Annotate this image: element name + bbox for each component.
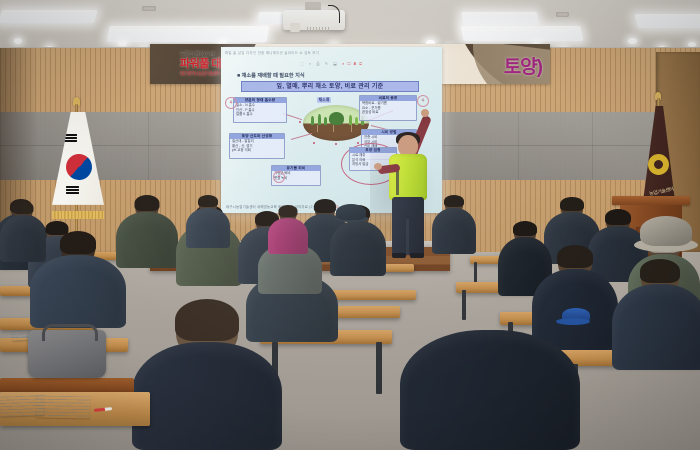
lecture-hall-photo: 두류의 활력이 넘 파워풀 대 대구광역시농업기술센터 토양) 파일 홈 삽입 … (0, 0, 700, 450)
slide-box-item: 완효성 비료 (360, 110, 416, 115)
slide-box-top-left: 양분의 형태 흡수량 질소 - N 흡수 인산 - P 흡수 칼륨 K 흡수 (233, 97, 287, 123)
slide-app-ribbon: ⬚ ⌕ ⎙ ✎ ⬓ ⌕ ⬚ ⊞ ⊡ (227, 61, 436, 69)
root-icon (333, 125, 334, 132)
audience-member (132, 300, 282, 450)
connector-node (313, 142, 315, 144)
panel-light (461, 12, 539, 25)
audience-member (268, 206, 308, 254)
plant-icon (318, 114, 321, 125)
plant-icon (324, 117, 327, 125)
root-icon (351, 125, 352, 132)
handout (36, 396, 90, 419)
audience-torso (30, 255, 126, 328)
audience-hair (605, 209, 631, 225)
audience-member (432, 196, 476, 254)
presenter-safety-vest (389, 154, 427, 200)
projector-lens (290, 23, 300, 32)
banner-left-headline: 파워풀 대 (180, 58, 221, 70)
audience-member (612, 260, 700, 370)
audience-torso (432, 208, 476, 254)
audience-hair (560, 197, 584, 211)
audience-hair (444, 195, 464, 207)
desk-leg (376, 342, 382, 394)
presenter-pointing-hand (421, 109, 429, 117)
plant-icon (311, 116, 314, 125)
audience-torso (268, 218, 308, 254)
backpack (28, 330, 106, 378)
connector-node (299, 121, 301, 123)
audience-hair (279, 205, 298, 217)
ceiling-projector (283, 2, 345, 32)
desk-leg (462, 290, 466, 320)
podium-top (612, 196, 690, 205)
downlight (628, 38, 637, 44)
audience-hair (60, 231, 96, 254)
audience-hair (175, 299, 239, 341)
slide-box-item: 칼륨 K 흡수 (234, 112, 286, 117)
diagram-center-label: 채소류 (317, 97, 331, 103)
downlight (14, 38, 22, 44)
audience-torso (330, 221, 386, 276)
sprout-icon: ⚘ (273, 171, 285, 183)
slide-title: 잎, 열매, 뿌리 채소 토양, 비료 관리 기준 (241, 81, 419, 92)
blue-cap-brim (556, 318, 590, 325)
audience-hair (513, 221, 537, 236)
audience-hair (557, 245, 593, 268)
connector-line (291, 133, 312, 140)
tree-icon (329, 112, 344, 125)
taeguk-symbol (61, 149, 96, 184)
slide-bullet-heading: ■ 채소를 재배할 때 필요한 지식 (237, 72, 305, 79)
audience-hair (198, 195, 218, 207)
panel-light (634, 14, 700, 28)
trigram-gon (66, 186, 79, 195)
ceiling-vent (556, 12, 569, 17)
audience-hair (640, 259, 680, 283)
audience-member (0, 202, 46, 262)
ribbon-icons-accent: ⌕ ⬚ ⊞ ⊡ (342, 61, 363, 66)
panel-light (107, 26, 270, 42)
presenter-shoe (392, 253, 406, 258)
plant-icon (349, 115, 352, 125)
audience-member (186, 196, 230, 248)
panel-light (461, 26, 584, 41)
projector-cable (328, 5, 340, 23)
banner-right-text: 토양) (504, 52, 542, 79)
root-icon (317, 125, 318, 132)
audience-torso (400, 330, 580, 450)
presenter-legs (392, 197, 424, 255)
downlight (688, 42, 696, 47)
projector-grille (307, 27, 329, 32)
audience-member (400, 330, 580, 450)
panel-light (0, 10, 98, 23)
organization-emblem (648, 154, 669, 175)
presenter-shoe (410, 253, 424, 258)
ribbon-icons-left: ⬚ ⌕ ⎙ ✎ ⬓ (300, 61, 339, 66)
hat (336, 204, 366, 220)
presenter-left-hand (374, 163, 382, 170)
audience-torso (186, 208, 230, 248)
audience-hair (135, 195, 160, 211)
audience-hair (13, 201, 34, 214)
sprout-icon: ⚘ (225, 97, 237, 109)
ceiling-vent (142, 6, 156, 11)
plant-icon (355, 117, 358, 125)
desk-leg (474, 262, 477, 284)
desk (330, 290, 416, 300)
slide-box-item: pH 교정 석회 (230, 148, 284, 153)
downlight (118, 40, 127, 46)
audience-torso (0, 215, 46, 262)
desk-front-edge (0, 378, 134, 392)
connector-node (335, 143, 337, 145)
audience-torso (612, 284, 700, 370)
slide-box-mid-left: 토양 산도와 산성화 질산태 - 알칼리 황산 - 산, 염기 pH 교정 석회 (229, 133, 285, 159)
audience-torso (132, 342, 282, 450)
slide-app-toolbar: 파일 홈 삽입 디자인 전환 애니메이션 슬라이드 쇼 검토 보기 (225, 50, 438, 61)
sprout-icon: ⚘ (417, 95, 429, 107)
flag-fringe (52, 211, 104, 219)
hat (640, 216, 692, 246)
presenter-vest-strap (396, 169, 399, 195)
